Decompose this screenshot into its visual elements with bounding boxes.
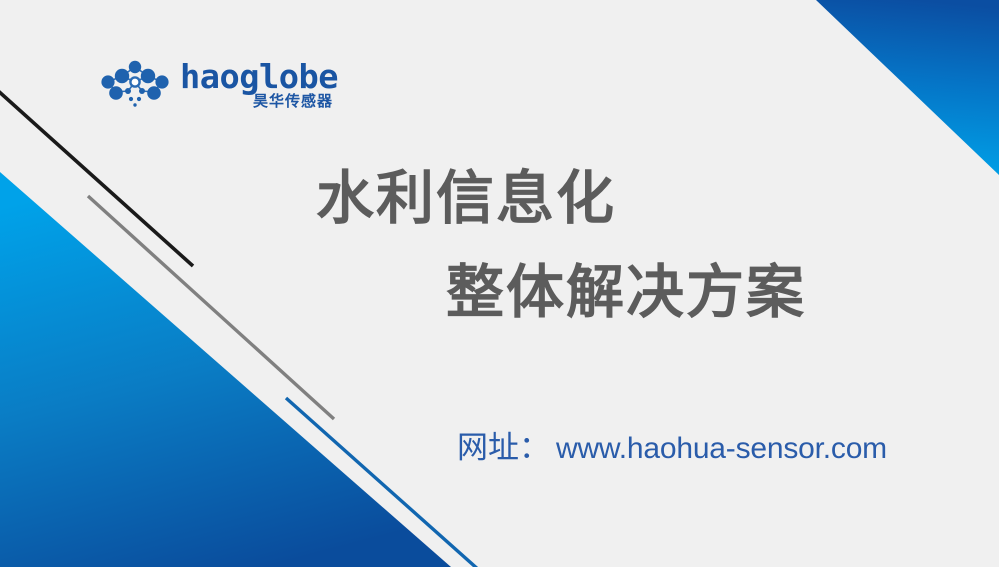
- company-logo[interactable]: haoglobe 昊华传感器: [96, 58, 335, 111]
- website-url[interactable]: www.haohua-sensor.com: [556, 432, 887, 466]
- page-title-line-1: 水利信息化: [316, 167, 616, 231]
- website-label: 网址：: [457, 422, 550, 467]
- logo-text-group: haoglobe 昊华传感器: [180, 58, 335, 111]
- presentation-title-slide: haoglobe 昊华传感器 水利信息化 整体解决方案 网址： www.haoh…: [0, 0, 999, 567]
- haoglobe-molecule-icon: [96, 58, 174, 110]
- website-row: 网址： www.haohua-sensor.com: [457, 422, 887, 467]
- page-title-line-2: 整体解决方案: [446, 261, 806, 325]
- logo-wordmark: haoglobe: [180, 60, 338, 94]
